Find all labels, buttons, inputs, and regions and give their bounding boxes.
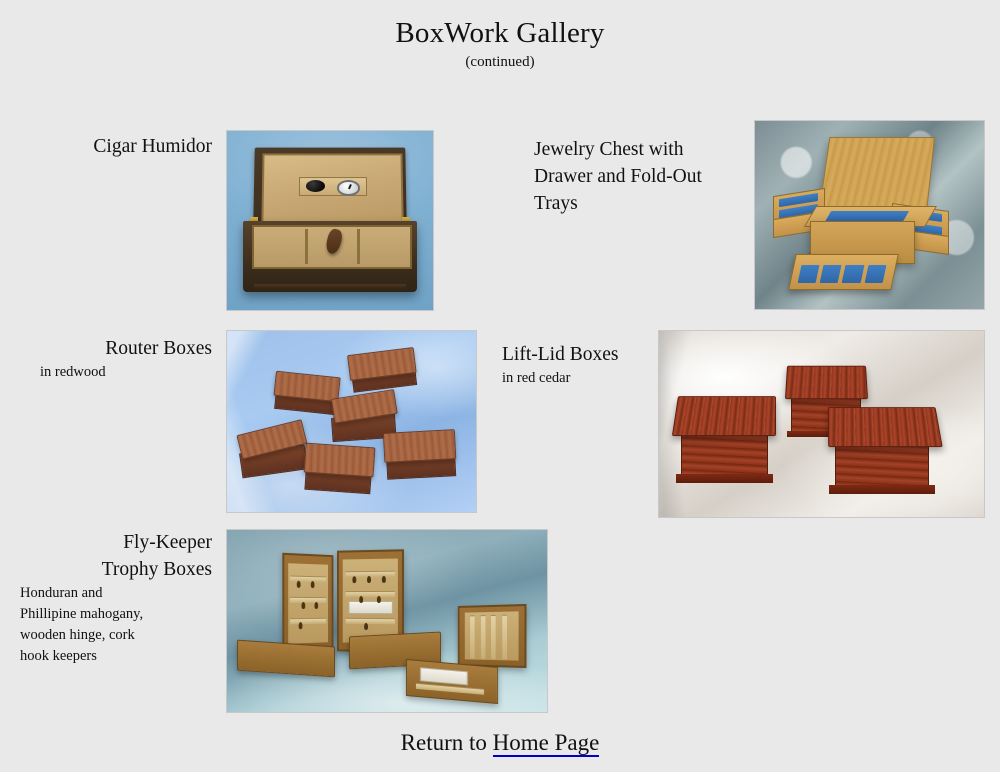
engraved-label [420,667,469,685]
cigar [324,228,344,255]
photo-scene [755,121,984,309]
humidor-tray [252,225,412,269]
fishing-fly [367,576,371,583]
caption-fly-keeper-boxes: Fly-Keeper Trophy Boxes Honduran and Phi… [20,529,212,667]
footer: Return to Home Page [0,728,1000,758]
fishing-fly [364,623,368,630]
humidor-lid [253,148,407,226]
box-lid [304,443,376,478]
router-box [303,443,376,493]
router-box [347,347,418,391]
cork-lining [465,611,519,660]
cork-strip-vertical [470,615,474,658]
fishing-fly [353,576,357,583]
fly-box-open-left-panel [283,552,334,653]
caption-title: Jewelry Chest with Drawer and Fold-Out T… [534,136,749,217]
felt-insert [864,266,886,284]
footer-prefix: Return to [401,730,493,755]
humidor-divider-2 [357,229,360,264]
photo-router-boxes[interactable] [226,330,477,513]
box-body [835,441,930,489]
photo-cigar-humidor[interactable] [226,130,434,311]
fishing-fly [382,576,386,583]
lift-lid-box-left [675,394,776,483]
box-lid [785,366,868,400]
humidor-base [243,221,416,293]
fly-box-open-flat-front [406,659,498,704]
fly-box-standing-right [458,604,527,668]
caption-title: Fly-Keeper Trophy Boxes [20,529,212,583]
fly-box-closed-left [237,639,335,677]
photo-scene [227,331,476,512]
page-title: BoxWork Gallery [0,16,1000,50]
cork-strip [416,683,484,695]
caption-subtitle: in redwood [40,362,212,383]
fishing-fly [359,596,363,603]
felt-insert [797,266,819,284]
cork-strip [345,591,395,597]
cork-strip-vertical [502,614,507,659]
humidifier-disc-icon [305,180,325,192]
caption-title: Lift-Lid Boxes [502,341,662,368]
box-plinth [829,485,935,494]
caption-router-boxes: Router Boxes in redwood [40,335,212,383]
humidor-lid-interior [261,153,403,223]
photo-jewelry-chest[interactable] [754,120,985,310]
humidor-plinth [254,284,406,289]
cork-strip-vertical [481,614,486,658]
felt-insert [820,266,842,284]
hygrometer-gauge-icon [337,180,359,195]
photo-scene [227,131,433,310]
engraved-label [348,601,392,614]
photo-fly-keeper-boxes[interactable] [226,529,548,713]
humidor-instrument-plate [299,177,367,195]
photo-scene [659,331,984,517]
cork-strip [290,596,327,602]
jewelry-chest-drawer [788,254,898,290]
box-lid [672,396,776,436]
jewelry-chest-lid [818,137,935,213]
page-header: BoxWork Gallery (continued) [0,16,1000,72]
caption-title: Router Boxes [40,335,212,362]
caption-title: Cigar Humidor [40,133,212,160]
router-box-open [234,424,309,477]
fishing-fly [297,580,301,587]
page-subtitle: (continued) [0,52,1000,72]
fishing-fly [311,581,315,588]
cork-lining [343,558,397,643]
cork-strip [290,617,327,624]
box-lid [383,429,457,463]
photo-lift-lid-boxes[interactable] [658,330,985,518]
cork-lining [289,562,329,643]
fishing-fly [376,596,380,603]
caption-cigar-humidor: Cigar Humidor [40,133,212,160]
router-box [383,429,457,478]
photo-scene [227,530,547,712]
humidor-divider-1 [305,229,308,264]
caption-subtitle: Honduran and Phillipine mahogany, wooden… [20,583,212,667]
cork-strip-vertical [491,614,496,658]
caption-jewelry-chest: Jewelry Chest with Drawer and Fold-Out T… [534,136,749,217]
lift-lid-box-right [828,405,939,494]
cork-strip [345,618,395,624]
caption-lift-lid-boxes: Lift-Lid Boxes in red cedar [502,341,662,389]
box-body [681,430,768,478]
home-page-link[interactable]: Home Page [493,730,600,757]
box-lid [828,408,942,448]
caption-subtitle: in red cedar [502,368,662,389]
box-plinth [676,474,773,483]
felt-insert [842,266,864,284]
cork-strip [290,575,327,582]
felt-insert [825,210,909,220]
